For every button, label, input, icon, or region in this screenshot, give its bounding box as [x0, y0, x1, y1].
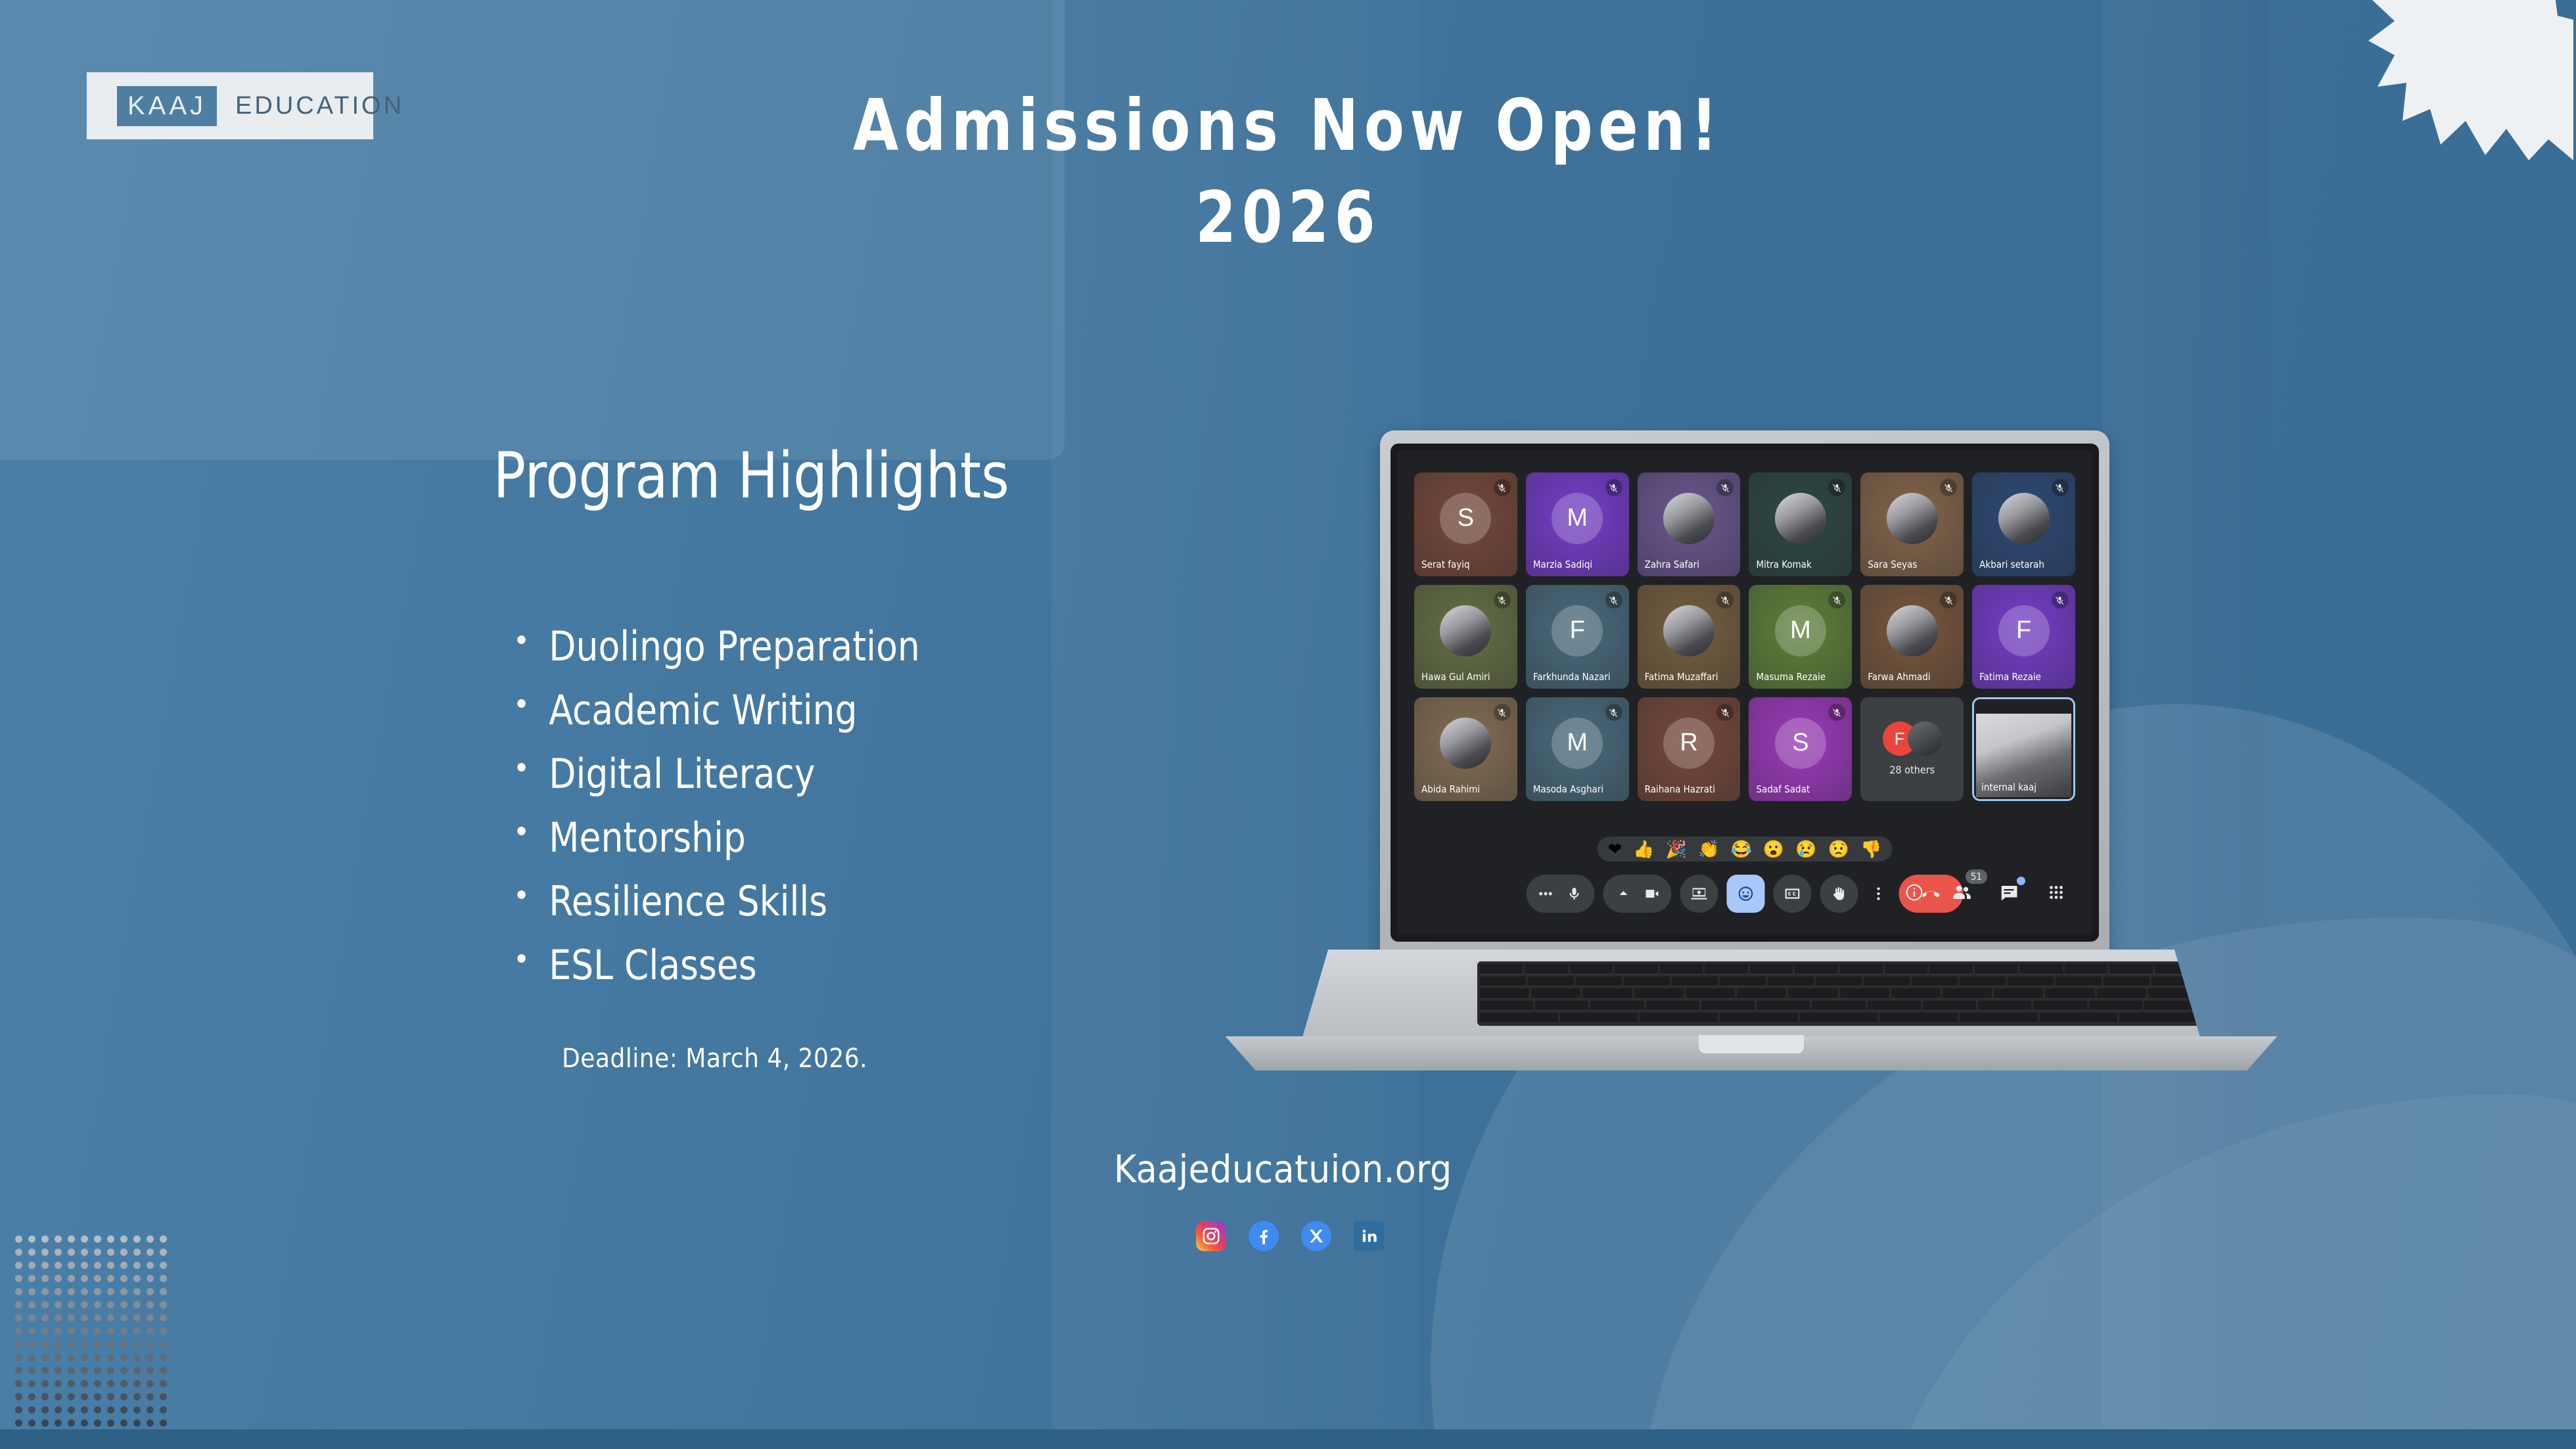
poster-canvas: KAAJ EDUCATION Admissions Now Open! 2026… — [0, 0, 2576, 1449]
mic-muted-icon — [1940, 591, 1957, 609]
keyboard-key — [1768, 977, 1814, 987]
keyboard-key — [1531, 988, 1580, 999]
keyboard-key — [1634, 988, 1684, 999]
deadline-text: Deadline: March 4, 2026. — [562, 1044, 867, 1074]
reaction-emoji[interactable]: 😟 — [1828, 840, 1849, 858]
people-icon — [1952, 883, 1971, 902]
participant-tile[interactable]: MMasoda Asghari — [1526, 697, 1629, 801]
mic-muted-icon — [1494, 479, 1511, 496]
keyboard-key — [1750, 964, 1793, 975]
self-view-tile[interactable]: internal kaaj — [1972, 697, 2075, 801]
participant-tile[interactable]: Farwa Ahmadi — [1860, 585, 1964, 689]
info-icon — [1904, 883, 1924, 902]
mic-muted-icon — [1940, 479, 1957, 496]
mic-muted-icon — [1605, 479, 1622, 496]
keyboard-key — [1788, 988, 1837, 999]
participant-name: Mitra Komak — [1756, 559, 1811, 570]
avatar: F — [1552, 605, 1603, 656]
participant-name: Fatima Rezaie — [1979, 671, 2041, 683]
keyboard-row — [1480, 977, 2197, 987]
keyboard-key — [1480, 988, 1529, 999]
keyboard-key — [1929, 964, 1972, 975]
participant-tile[interactable]: FFatima Rezaie — [1972, 585, 2075, 689]
participant-name: Sadaf Sadat — [1756, 783, 1810, 795]
activities-button[interactable] — [2041, 877, 2071, 908]
mic-muted-icon — [1716, 479, 1734, 496]
avatar — [1775, 493, 1826, 544]
keyboard-key — [1480, 964, 1523, 975]
keyboard-row — [1480, 1001, 2197, 1011]
avatar: R — [1663, 718, 1714, 769]
participant-name: Zahra Safari — [1645, 559, 1699, 570]
highlight-item: ESL Classes — [506, 933, 920, 997]
video-call-screen: SSerat fayiqMMarzia SadiqiZahra SafariMi… — [1397, 450, 2092, 935]
keyboard-key — [1528, 977, 1574, 987]
mic-muted-icon — [1828, 479, 1845, 496]
others-avatar-photo — [1908, 722, 1942, 756]
keyboard-row — [1480, 1013, 2197, 1023]
mic-muted-icon — [1494, 591, 1511, 609]
keyboard-key — [1660, 964, 1703, 975]
keyboard-key — [2144, 1001, 2197, 1011]
avatar — [1663, 605, 1714, 656]
camera-button[interactable] — [1603, 875, 1672, 913]
keyboard-key — [1757, 1001, 1810, 1011]
mic-muted-icon — [1605, 704, 1622, 721]
keyboard-key — [2056, 977, 2102, 987]
captions-button[interactable] — [1774, 875, 1812, 913]
keyboard-key — [1943, 988, 1992, 999]
website-url[interactable]: Kaajeducatuion.org — [1114, 1147, 1452, 1191]
highlight-item: Mentorship — [506, 806, 920, 869]
mic-muted-icon — [1716, 704, 1734, 721]
participant-tile[interactable]: RRaihana Hazrati — [1638, 697, 1741, 801]
reaction-emoji[interactable]: 👎 — [1860, 840, 1881, 858]
laptop-latch-notch — [1699, 1035, 1804, 1053]
keyboard-key — [1816, 977, 1862, 987]
headline-line-1: Admissions Now Open! — [853, 85, 1723, 167]
keyboard-key — [1960, 1013, 2038, 1023]
raise-hand-button[interactable] — [1820, 875, 1858, 913]
participant-name: Masuma Rezaie — [1756, 671, 1826, 683]
participant-name: Raihana Hazrati — [1645, 783, 1715, 795]
keyboard-key — [1535, 1001, 1588, 1011]
instagram-icon[interactable] — [1196, 1221, 1226, 1251]
participant-tile[interactable]: Zahra Safari — [1638, 472, 1741, 576]
participant-tile[interactable]: Abida Rahimi — [1414, 697, 1517, 801]
participant-grid: SSerat fayiqMMarzia SadiqiZahra SafariMi… — [1414, 472, 2075, 801]
participant-name: Farkhunda Nazari — [1533, 671, 1611, 683]
avatar-initial: R — [1680, 729, 1697, 757]
keyboard-key — [1570, 964, 1613, 975]
others-count-label: 28 others — [1860, 764, 1964, 776]
headline-line-2: 2026 — [103, 172, 2473, 264]
keyboard-key — [1615, 964, 1657, 975]
facebook-icon[interactable] — [1249, 1221, 1279, 1251]
laptop-bezel: SSerat fayiqMMarzia SadiqiZahra SafariMi… — [1391, 444, 2099, 942]
participant-name: Marzia Sadiqi — [1533, 559, 1592, 570]
apps-grid-icon — [2046, 883, 2066, 902]
participant-tile[interactable]: Akbari setarah — [1972, 472, 2075, 576]
reaction-emoji[interactable]: 👍 — [1633, 840, 1654, 858]
keyboard-key — [1879, 1013, 1958, 1023]
participant-tile[interactable]: Fatima Muzaffari — [1638, 585, 1741, 689]
keyboard-key — [1868, 1001, 1921, 1011]
highlight-item: Academic Writing — [506, 678, 920, 742]
keyboard-key — [1912, 977, 1958, 987]
keyboard-key — [1978, 1001, 2031, 1011]
highlight-item: Duolingo Preparation — [506, 614, 920, 678]
keyboard-key — [1840, 988, 1889, 999]
keyboard-key — [2148, 988, 2197, 999]
participants-button[interactable]: 51 — [1946, 877, 1977, 908]
keyboard-key — [1720, 977, 1766, 987]
chat-icon — [1999, 883, 2019, 902]
keyboard-key — [2033, 1001, 2086, 1011]
chevron-up-icon — [1615, 886, 1631, 902]
participant-tile[interactable]: Mitra Komak — [1749, 472, 1852, 576]
present-screen-icon — [1691, 885, 1708, 902]
avatar: M — [1552, 718, 1603, 769]
self-view-name: internal kaaj — [1981, 781, 2036, 793]
keyboard-key — [2109, 964, 2152, 975]
laptop-lid: SSerat fayiqMMarzia SadiqiZahra SafariMi… — [1380, 430, 2109, 956]
keyboard-key — [1885, 964, 1927, 975]
keyboard-key — [2065, 964, 2107, 975]
highlight-item: Digital Literacy — [506, 742, 920, 806]
avatar: S — [1775, 718, 1826, 769]
participant-tile[interactable]: Hawa Gul Amiri — [1414, 585, 1517, 689]
mic-muted-icon — [1828, 591, 1845, 609]
reaction-emoji[interactable]: ❤ — [1608, 840, 1622, 858]
keyboard-key — [1686, 988, 1735, 999]
raise-hand-icon — [1831, 885, 1848, 902]
keyboard-key — [2151, 977, 2197, 987]
others-avatars: F — [1883, 722, 1942, 756]
keyboard-key — [2040, 1013, 2118, 1023]
participant-tile[interactable]: Sara Seyas — [1860, 472, 1964, 576]
reaction-emoji[interactable]: 😂 — [1731, 840, 1752, 858]
present-screen-button[interactable] — [1680, 875, 1718, 913]
participant-name: Masoda Asghari — [1533, 783, 1603, 795]
keyboard-key — [1640, 1013, 1718, 1023]
keyboard-key — [1590, 1001, 1644, 1011]
keyboard-key — [1480, 1001, 1533, 1011]
keyboard-key — [2019, 964, 2062, 975]
others-tile[interactable]: F28 others — [1860, 697, 1964, 801]
keyboard-key — [1812, 1001, 1865, 1011]
participant-name: Abida Rahimi — [1421, 783, 1480, 795]
reactions-button[interactable] — [1727, 875, 1765, 913]
participant-name: Akbari setarah — [1979, 559, 2044, 570]
keyboard-key — [1960, 977, 2006, 987]
microphone-button[interactable]: ••• — [1527, 875, 1595, 913]
avatar: S — [1440, 493, 1491, 544]
avatar — [1440, 605, 1491, 656]
avatar-initial: F — [2016, 616, 2031, 645]
keyboard-key — [1975, 964, 2017, 975]
reaction-emoji[interactable]: 👏 — [1698, 840, 1719, 858]
keyboard-key — [1923, 1001, 1976, 1011]
avatar — [1887, 493, 1938, 544]
keyboard-key — [1705, 964, 1747, 975]
mic-muted-icon — [1605, 591, 1622, 609]
keyboard-key — [2155, 964, 2197, 975]
mic-muted-icon — [1716, 591, 1734, 609]
avatar-initial: M — [1567, 729, 1588, 757]
more-dots-icon: ••• — [1539, 887, 1553, 901]
keyboard-key — [2089, 1001, 2142, 1011]
participant-name: Fatima Muzaffari — [1645, 671, 1718, 683]
keyboard-row — [1480, 964, 2197, 975]
reaction-bar[interactable]: ❤👍🎉👏😂😮😢😟👎 — [1598, 837, 1893, 862]
keyboard-key — [2045, 988, 2094, 999]
participant-tile[interactable]: SSadaf Sadat — [1749, 697, 1852, 801]
participant-tile[interactable]: FFarkhunda Nazari — [1526, 585, 1629, 689]
avatar: M — [1552, 493, 1603, 544]
keyboard-key — [1720, 1013, 1798, 1023]
meeting-info-button[interactable] — [1899, 877, 1929, 908]
keyboard-key — [1737, 988, 1786, 999]
avatar — [1663, 493, 1714, 544]
keyboard-key — [1795, 964, 1837, 975]
laptop-mockup: SSerat fayiqMMarzia SadiqiZahra SafariMi… — [1212, 430, 2290, 1097]
emoji-smile-icon — [1737, 885, 1755, 902]
laptop-deck — [1301, 950, 2201, 1042]
keyboard-key — [2119, 1013, 2197, 1023]
call-controls-center: ••• — [1527, 875, 1964, 913]
keyboard-key — [1864, 977, 1910, 987]
participant-count-badge: 51 — [1966, 869, 1987, 884]
keyboard-key — [1994, 988, 2043, 999]
participant-tile[interactable]: MMarzia Sadiqi — [1526, 472, 1629, 576]
keyboard-key — [1800, 1013, 1878, 1023]
participant-name: Sara Seyas — [1868, 559, 1917, 570]
keyboard-row — [1480, 988, 2197, 999]
mic-muted-icon — [1828, 704, 1845, 721]
avatar-initial: S — [1458, 504, 1474, 532]
laptop-keyboard — [1477, 961, 2200, 1026]
participant-name: Serat fayiq — [1421, 559, 1470, 570]
camera-icon — [1644, 886, 1659, 902]
highlight-item: Resilience Skills — [506, 869, 920, 933]
mic-muted-icon — [2052, 591, 2069, 609]
participant-tile[interactable]: SSerat fayiq — [1414, 472, 1517, 576]
bottom-accent-bar — [0, 1429, 2576, 1449]
vertical-dots-icon — [1870, 885, 1887, 902]
mic-muted-icon — [2052, 479, 2069, 496]
page-title: Admissions Now Open! 2026 — [103, 80, 2473, 265]
keyboard-key — [1624, 977, 1670, 987]
program-highlights-list: Duolingo PreparationAcademic WritingDigi… — [506, 614, 937, 997]
keyboard-key — [1840, 964, 1883, 975]
dot-grid-decoration — [12, 1232, 170, 1429]
mic-muted-icon — [1494, 704, 1511, 721]
keyboard-key — [1582, 988, 1632, 999]
avatar-initial: M — [1790, 616, 1811, 645]
keyboard-key — [1480, 977, 1526, 987]
keyboard-key — [2104, 977, 2150, 987]
avatar — [1998, 493, 2050, 544]
keyboard-key — [1560, 1013, 1638, 1023]
program-highlights-title: Program Highlights — [494, 439, 1009, 513]
keyboard-key — [1480, 1013, 1558, 1023]
laptop-base — [1212, 950, 2290, 1074]
keyboard-key — [1891, 988, 1941, 999]
microphone-icon — [1566, 886, 1582, 902]
keyboard-key — [2008, 977, 2054, 987]
participant-name: Hawa Gul Amiri — [1421, 671, 1490, 683]
avatar — [1440, 718, 1491, 769]
more-options-button[interactable] — [1867, 875, 1891, 913]
keyboard-key — [2097, 988, 2146, 999]
reaction-emoji[interactable]: 😮 — [1763, 840, 1784, 858]
x-twitter-icon[interactable] — [1301, 1221, 1331, 1251]
avatar-initial: S — [1792, 729, 1808, 757]
closed-captions-icon — [1784, 885, 1801, 902]
keyboard-key — [1701, 1001, 1755, 1011]
call-controls-right: 51 — [1899, 877, 2071, 908]
avatar-initial: F — [1570, 616, 1585, 645]
avatar: M — [1775, 605, 1826, 656]
avatar-initial: M — [1567, 504, 1588, 532]
social-links — [1196, 1221, 1384, 1251]
keyboard-key — [1576, 977, 1622, 987]
reaction-emoji[interactable]: 😢 — [1795, 840, 1816, 858]
keyboard-key — [1672, 977, 1718, 987]
chat-button[interactable] — [1994, 877, 2024, 908]
keyboard-key — [1525, 964, 1567, 975]
keyboard-key — [1646, 1001, 1699, 1011]
avatar: F — [1998, 605, 2050, 656]
chat-unread-dot — [2017, 877, 2025, 885]
call-control-bar: ••• — [1397, 875, 2092, 917]
participant-tile[interactable]: MMasuma Rezaie — [1749, 585, 1852, 689]
avatar — [1887, 605, 1938, 656]
linkedin-icon[interactable] — [1354, 1221, 1384, 1251]
reaction-emoji[interactable]: 🎉 — [1666, 840, 1687, 858]
participant-name: Farwa Ahmadi — [1868, 671, 1930, 683]
